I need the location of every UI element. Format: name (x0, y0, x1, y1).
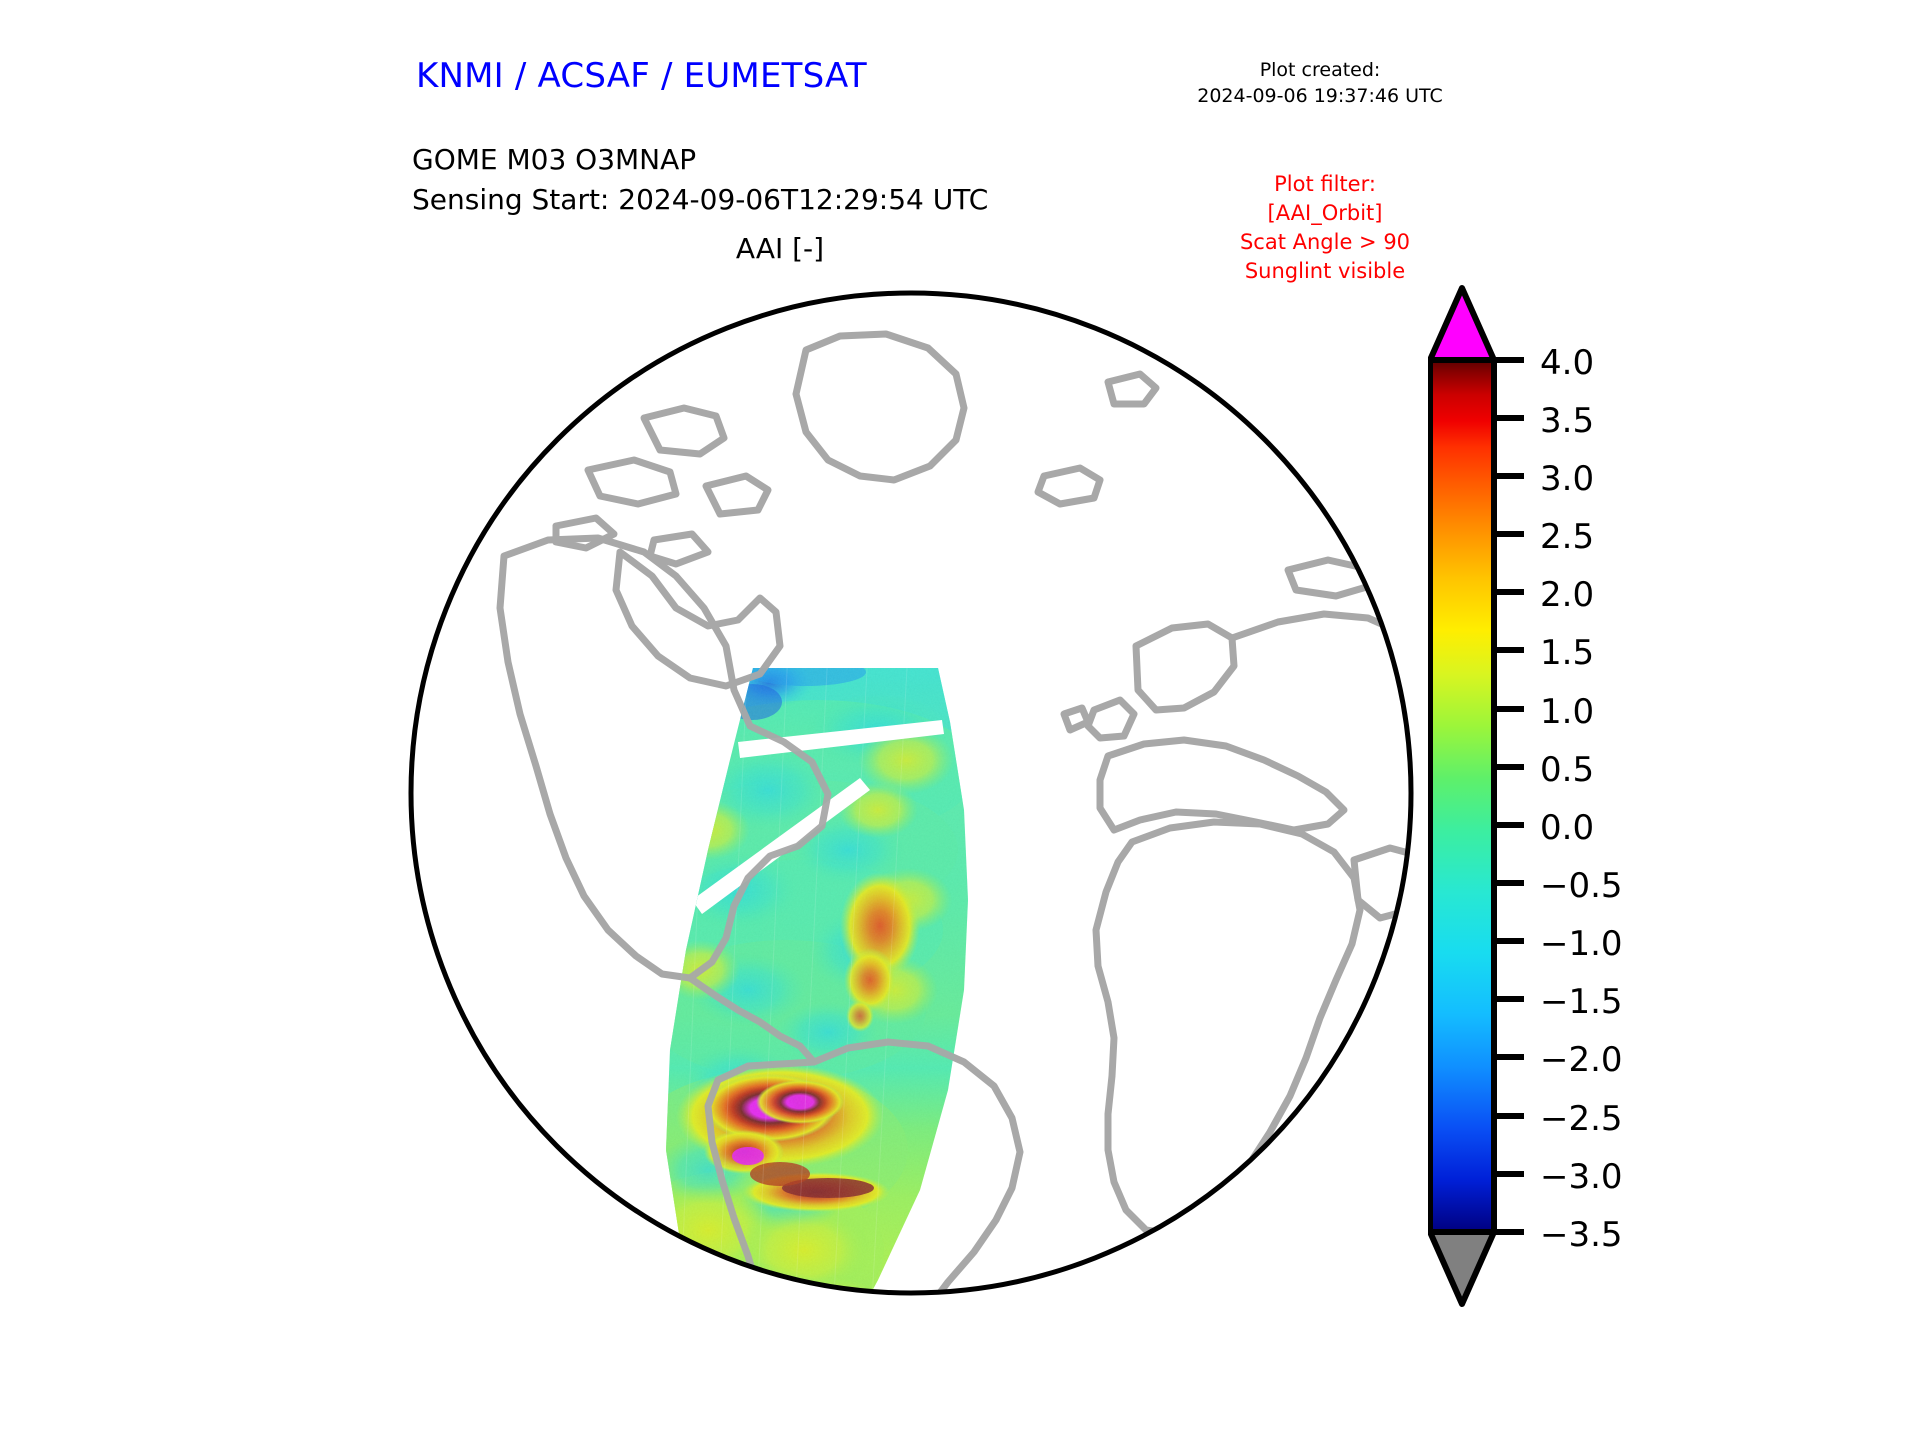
cbar-label-1-5: 1.5 (1540, 633, 1594, 673)
colorbar: 4.0 3.5 3.0 2.5 2.0 1.5 1.0 0.5 0.0 −0.5… (1428, 282, 1808, 1312)
sensing-start: Sensing Start: 2024-09-06T12:29:54 UTC (412, 180, 988, 220)
cbar-label-neg0-5: −0.5 (1540, 866, 1623, 906)
product-info-block: GOME M03 O3MNAP Sensing Start: 2024-09-0… (412, 140, 988, 220)
plot-created-label: Plot created: (1160, 58, 1480, 84)
variable-title: AAI [-] (420, 232, 1140, 265)
plot-created-block: Plot created: 2024-09-06 19:37:46 UTC (1160, 58, 1480, 109)
map-globe (408, 290, 1414, 1296)
cbar-label-neg1-5: −1.5 (1540, 982, 1623, 1022)
colorbar-ticks: 4.0 3.5 3.0 2.5 2.0 1.5 1.0 0.5 0.0 −0.5… (1494, 343, 1623, 1255)
cbar-label-neg3-5: −3.5 (1540, 1215, 1623, 1255)
cbar-label-neg3-0: −3.0 (1540, 1157, 1623, 1197)
plot-filter-block: Plot filter: [AAI_Orbit] Scat Angle > 90… (1170, 170, 1480, 286)
plot-canvas: KNMI / ACSAF / EUMETSAT Plot created: 20… (0, 0, 1920, 1440)
cbar-label-neg1-0: −1.0 (1540, 924, 1623, 964)
organisation-title: KNMI / ACSAF / EUMETSAT (416, 56, 867, 96)
colorbar-gradient (1430, 360, 1494, 1232)
cbar-label-2-5: 2.5 (1540, 517, 1594, 557)
cbar-label-3-5: 3.5 (1540, 401, 1594, 441)
colorbar-over-arrow (1430, 288, 1494, 360)
cbar-label-neg2-5: −2.5 (1540, 1099, 1623, 1139)
plot-created-value: 2024-09-06 19:37:46 UTC (1160, 84, 1480, 110)
plot-filter-label: Plot filter: (1170, 170, 1480, 199)
colorbar-under-arrow (1430, 1232, 1494, 1304)
cbar-label-2-0: 2.0 (1540, 575, 1594, 615)
cbar-label-0-0: 0.0 (1540, 808, 1594, 848)
globe-svg (408, 290, 1414, 1296)
cbar-label-4-0: 4.0 (1540, 343, 1594, 383)
plot-filter-orbit: [AAI_Orbit] (1170, 199, 1480, 228)
cbar-label-1-0: 1.0 (1540, 692, 1594, 732)
cbar-label-neg2-0: −2.0 (1540, 1040, 1623, 1080)
plot-filter-scat-angle: Scat Angle > 90 (1170, 228, 1480, 257)
colorbar-svg: 4.0 3.5 3.0 2.5 2.0 1.5 1.0 0.5 0.0 −0.5… (1428, 282, 1808, 1312)
cbar-label-0-5: 0.5 (1540, 750, 1594, 790)
cbar-label-3-0: 3.0 (1540, 459, 1594, 499)
product-name: GOME M03 O3MNAP (412, 140, 988, 180)
